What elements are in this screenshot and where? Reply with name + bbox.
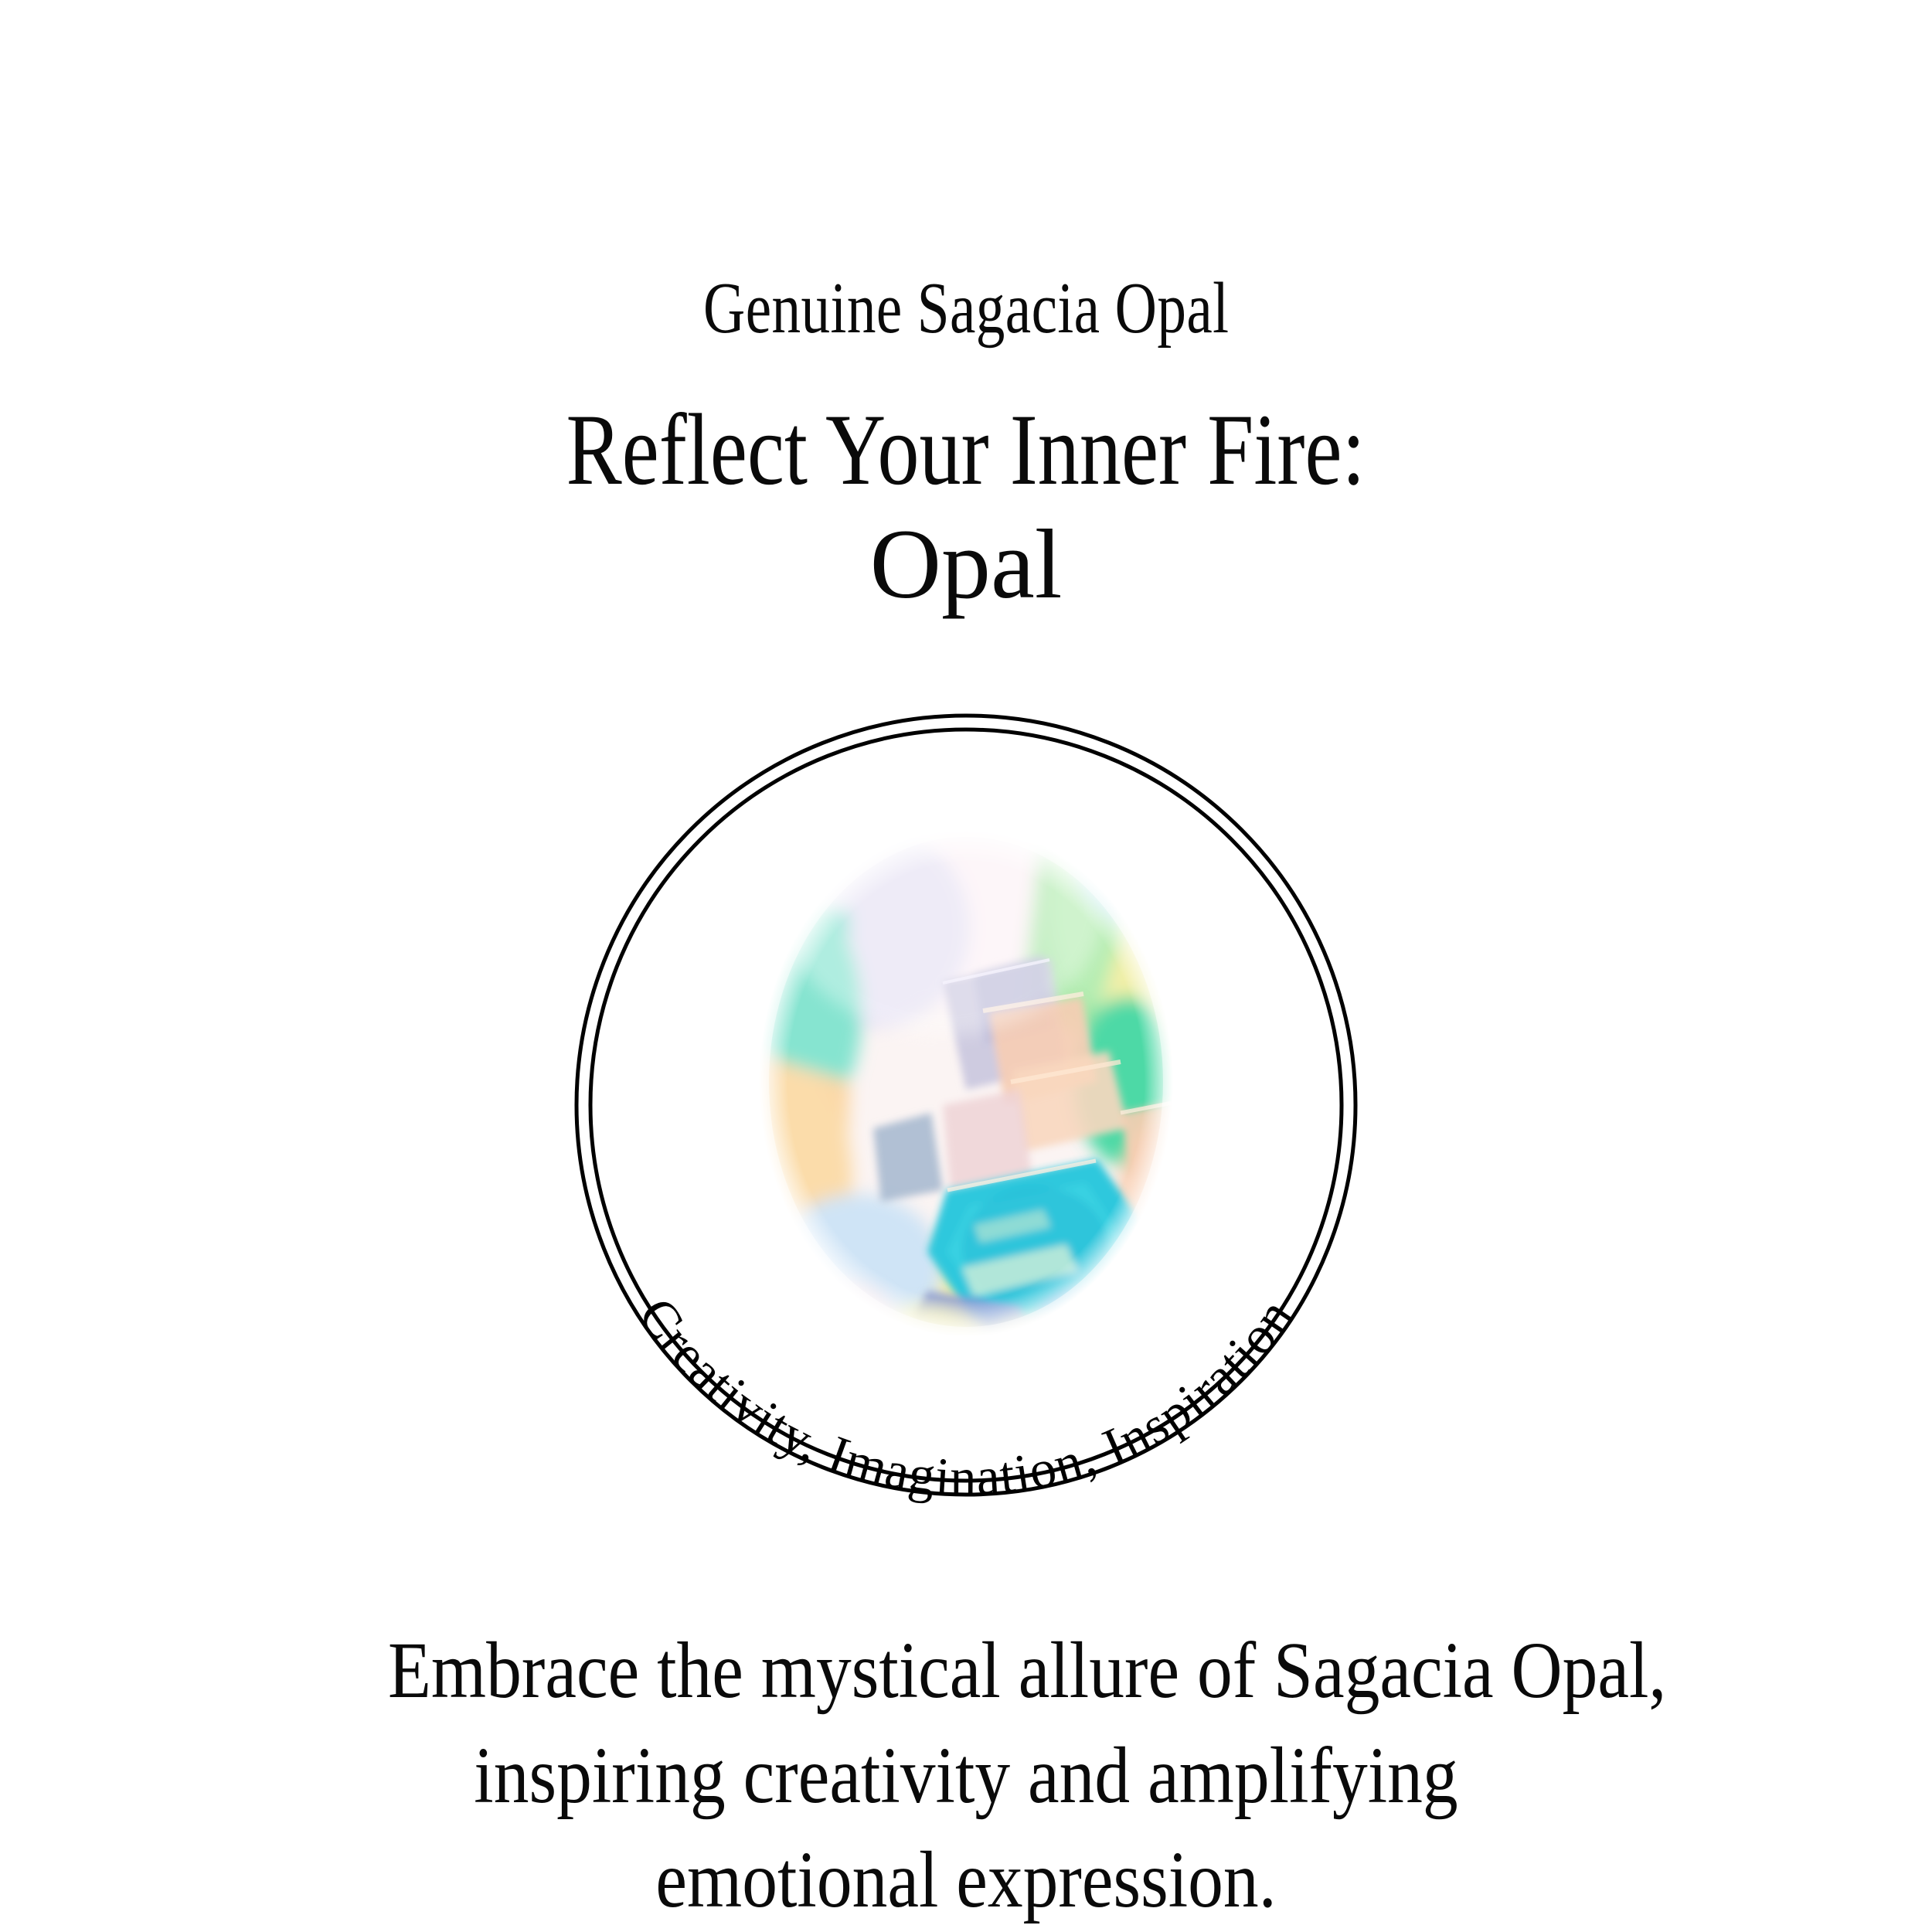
poster-root: Genuine Sagacia Opal Reflect Your Inner … [0,0,1932,1932]
page-title: Reflect Your Inner Fire: Opal [478,399,1453,614]
brand-eyebrow: Genuine Sagacia Opal [703,272,1229,345]
gemstone-emblem: Creativity, Imagination, Inspiration [510,649,1422,1544]
headline-line-1: Reflect Your Inner Fire: [566,399,1366,501]
headline-line-2: Opal [478,515,1453,614]
body-line-3: emotional expression. [388,1828,1544,1932]
body-line-2: inspiring creativity and amplifying [388,1723,1544,1828]
body-line-1: Embrace the mystical allure of Sagacia O… [388,1618,1544,1723]
emblem-svg: Creativity, Imagination, Inspiration [510,649,1422,1561]
opal-gem-image [730,773,1226,1395]
body-description: Embrace the mystical allure of Sagacia O… [388,1618,1544,1932]
